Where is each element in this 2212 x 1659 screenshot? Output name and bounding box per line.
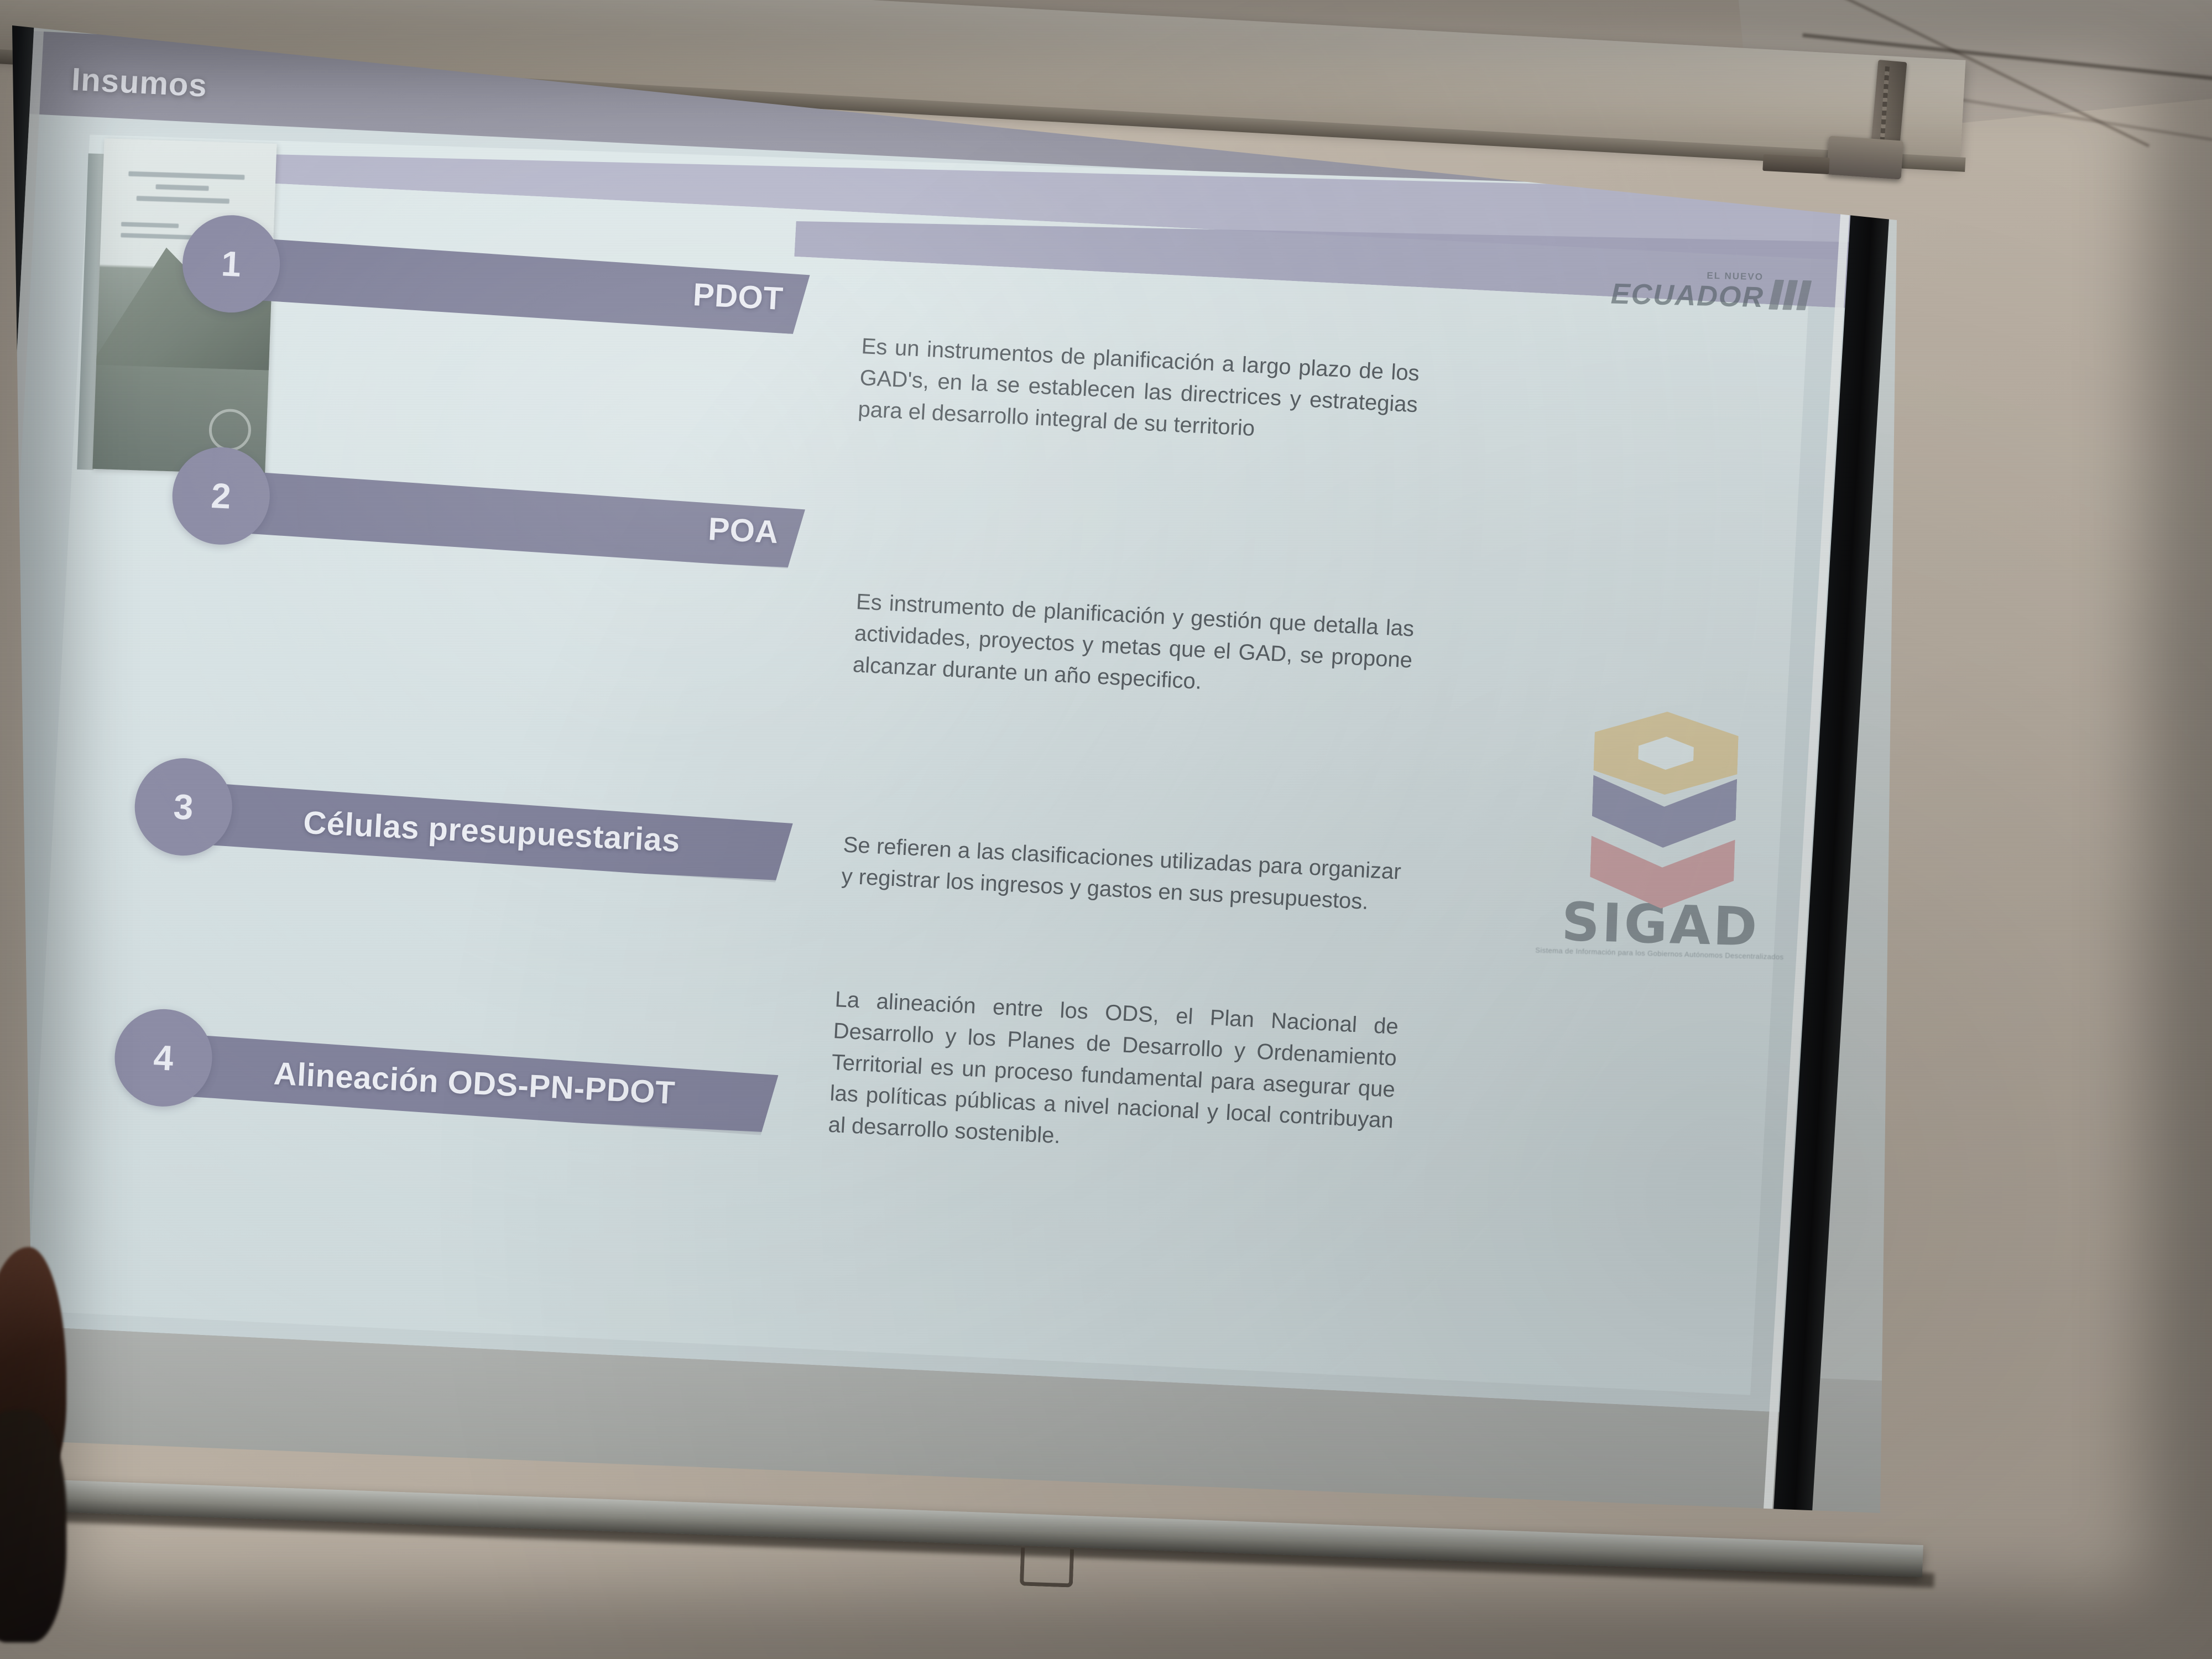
- projection-screen: Insumos EL NUEVO ECUADOR: [0, 25, 1924, 1590]
- step-label-1: PDOT: [692, 276, 784, 317]
- screen-mount-bolt: [1762, 154, 1829, 174]
- screen-mount-plate: [1827, 135, 1904, 179]
- projected-slide: Insumos EL NUEVO ECUADOR: [0, 31, 1870, 1413]
- ecuador-logo-bars-icon: [1771, 280, 1809, 311]
- step-label-2: POA: [707, 510, 780, 550]
- step-label-3: Células presupuestarias: [302, 804, 681, 859]
- step-description-4: La alineación entre los ODS, el Plan Nac…: [827, 984, 1399, 1168]
- room-photo: Insumos EL NUEVO ECUADOR: [0, 0, 2212, 1659]
- page-title: Insumos: [71, 61, 208, 105]
- sigad-stacked-layers-icon: [1578, 709, 1750, 896]
- book-cover-seal: [208, 408, 252, 451]
- screen-pull-handle[interactable]: [1020, 1547, 1074, 1587]
- person-silhouette-shoulder: [0, 1410, 66, 1642]
- sigad-logo: SIGAD Sistema de Información para los Go…: [1530, 708, 1797, 961]
- ecuador-logo: EL NUEVO ECUADOR: [1610, 269, 1809, 314]
- ecuador-logo-wordmark: ECUADOR: [1610, 280, 1764, 312]
